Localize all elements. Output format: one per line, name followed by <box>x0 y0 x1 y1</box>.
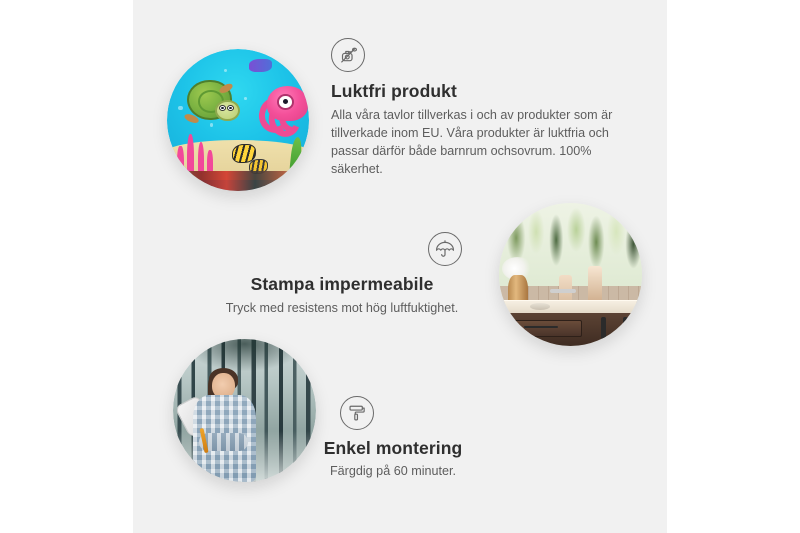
feature-title: Luktfri produkt <box>331 81 631 102</box>
bubble-icon <box>224 69 227 72</box>
feature-description: Alla våra tavlor tillverkas i och av pro… <box>331 107 623 179</box>
feature-title: Enkel montering <box>298 438 488 459</box>
umbrella-icon <box>428 232 462 266</box>
turtle-head <box>215 100 239 121</box>
feature-block-easy-mounting: Enkel montering Färgdig på 60 minuter. <box>298 396 488 481</box>
cabinet-handle <box>524 326 558 327</box>
paint-roller-icon <box>340 396 374 430</box>
underwater-scene <box>167 49 309 191</box>
feature-description: Färgdig på 60 minuter. <box>298 463 488 481</box>
product-photo-underwater-kids-illustration[interactable] <box>167 49 309 191</box>
countertop <box>499 300 642 314</box>
sea-turtle <box>184 77 241 124</box>
purple-fish <box>249 59 272 72</box>
screenshot-canvas: Luktfri produkt Alla våra tavlor tillver… <box>0 0 800 533</box>
octopus-eye <box>277 94 293 110</box>
turtle-eye <box>219 105 226 111</box>
turtle-eye <box>227 105 234 111</box>
feature-description: Tryck med resistens mot hög luftfuktighe… <box>212 300 472 318</box>
cabinet-handle <box>601 317 606 339</box>
cabinet-drawer <box>509 320 582 336</box>
feature-icon-wrap <box>331 38 631 72</box>
product-photo-woman-with-paint-roller-forest[interactable] <box>173 339 316 482</box>
coral <box>176 134 219 171</box>
bubble-icon <box>178 106 183 111</box>
cabinet-handle <box>623 317 628 339</box>
bottle <box>588 266 602 303</box>
feature-block-waterproof: Stampa impermeabile Tryck med resistens … <box>212 232 472 318</box>
bathroom-scene <box>499 203 642 346</box>
feature-icon-wrap <box>298 396 488 430</box>
no-spray-bottle-icon <box>331 38 365 72</box>
product-photo-bathroom-botanical-wallpaper[interactable] <box>499 203 642 346</box>
vanity-cabinet <box>499 313 642 346</box>
bubble-icon <box>244 97 247 100</box>
octopus <box>258 86 306 134</box>
faucet <box>550 289 576 293</box>
feature-block-odourless: Luktfri produkt Alla våra tavlor tillver… <box>331 38 631 179</box>
feature-title: Stampa impermeabile <box>212 274 472 295</box>
forest-scene <box>173 339 316 482</box>
octopus-body <box>267 86 309 121</box>
feature-panel: Luktfri produkt Alla våra tavlor tillver… <box>133 0 667 533</box>
photo-bottom-strip <box>167 171 309 191</box>
feature-icon-wrap <box>212 232 472 266</box>
woman-portrait <box>190 370 264 482</box>
